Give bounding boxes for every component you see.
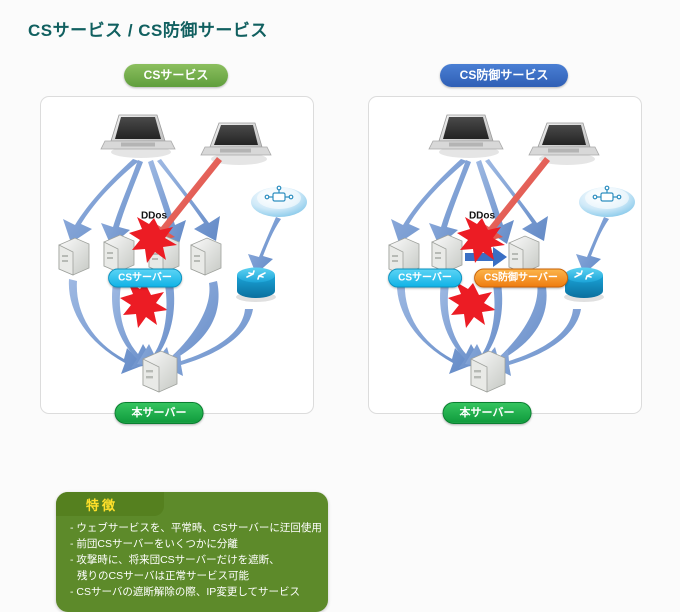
server-icon <box>509 236 539 273</box>
cloud-to-router-arrow <box>576 217 609 274</box>
cloud-to-router-arrow <box>248 217 281 274</box>
feature-item: - ウェブサービスを、平常時、CSサーバーに迂回使用 <box>70 520 320 536</box>
node-cs-protect-server[interactable]: CS防御サーバー <box>474 269 568 288</box>
impact-burst-icon <box>120 282 168 328</box>
column-cs-protect-service: CS防御サービス <box>356 64 652 414</box>
server-icon <box>104 235 134 272</box>
feature-box-cs-service: 特徴 - ウェブサービスを、平常時、CSサーバーに迂回使用 - 前団CSサーバー… <box>56 492 328 612</box>
laptop-attacker-icon <box>201 123 271 165</box>
feature-list: - ウェブサービスを、平常時、CSサーバーに迂回使用 - 前団CSサーバーをいく… <box>70 520 320 600</box>
server-icon <box>432 235 462 272</box>
feature-item: - 攻撃時に、将来団CSサーバーだけを遮断、 <box>70 552 320 568</box>
router-icon <box>564 268 604 303</box>
feature-item: - 前団CSサーバーをいくつかに分離 <box>70 536 320 552</box>
server-icon <box>191 238 221 275</box>
laptop-client-icon <box>101 115 175 158</box>
diagram-graphics-right <box>369 97 641 413</box>
laptop-attacker-icon <box>529 123 599 165</box>
cloud-network-icon <box>579 186 635 217</box>
feature-heading-text: 特徴 <box>86 495 118 514</box>
feature-heading-tab: 特徴 <box>56 492 164 516</box>
router-icon <box>236 268 276 303</box>
badge-cs-service: CSサービス <box>124 64 229 87</box>
server-icon <box>59 238 89 275</box>
node-cs-server[interactable]: CSサーバー <box>388 269 462 288</box>
column-cs-service: CSサービス <box>28 64 324 414</box>
badge-cs-protect-service: CS防御サービス <box>440 64 569 87</box>
feature-item-continuation: 残りのCSサーバは正常サービス可能 <box>70 568 320 584</box>
main-server-icon <box>471 351 505 392</box>
node-main-server[interactable]: 本サーバー <box>115 402 204 424</box>
main-server-icon <box>143 351 177 392</box>
impact-burst-icon <box>448 282 496 328</box>
node-main-server[interactable]: 本サーバー <box>443 402 532 424</box>
feature-item: - CSサーバの遮断解除の際、IP変更してサービス <box>70 584 320 600</box>
node-cs-server[interactable]: CSサーバー <box>108 269 182 288</box>
cloud-network-icon <box>251 186 307 217</box>
ddos-label: DDos <box>141 211 167 222</box>
diagram-graphics-left <box>41 97 313 413</box>
ddos-label: DDos <box>469 211 495 222</box>
diagram-panel-cs-service: DDos CSサーバー 本サーバー <box>40 96 314 414</box>
laptop-client-icon <box>429 115 503 158</box>
diagram-panel-cs-protect-service: DDos CSサーバー CS防御サーバー 本サーバー <box>368 96 642 414</box>
page-title: CSサービス / CS防御サービス <box>28 16 268 41</box>
